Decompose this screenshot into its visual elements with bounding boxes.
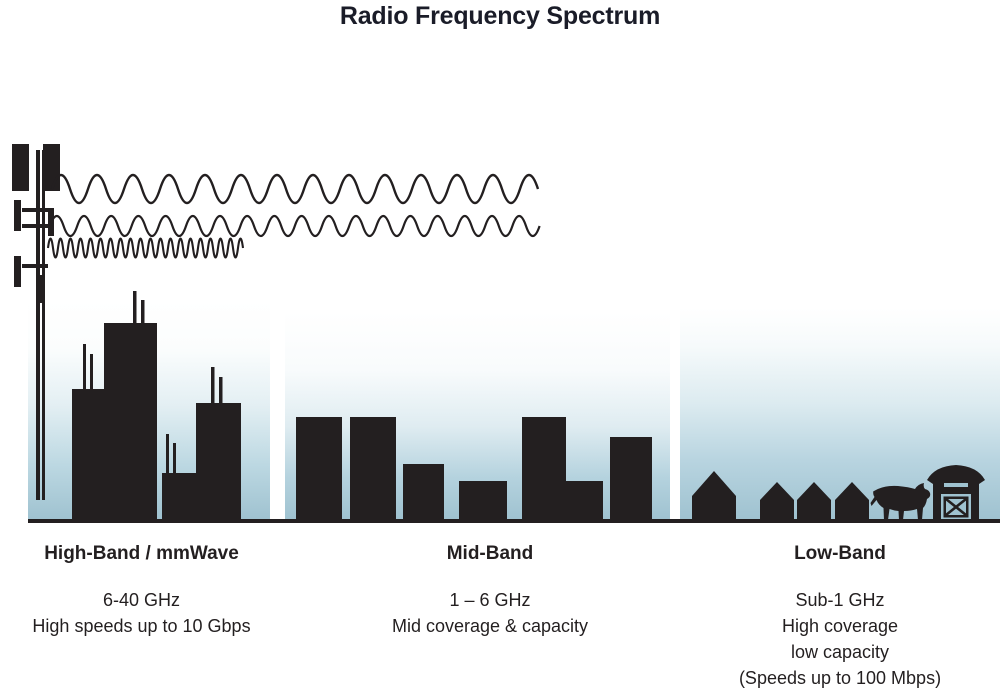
low-frequency-wave	[52, 175, 538, 203]
band-detail-capacity-low: low capacity	[680, 639, 1000, 665]
band-column-mid-band: Mid-Band 1 – 6 GHz Mid coverage & capaci…	[340, 543, 640, 639]
band-detail-speed-high: High speeds up to 10 Gbps	[0, 613, 283, 639]
mid-frequency-wave	[50, 216, 540, 236]
barn-icon	[927, 465, 985, 520]
band-detail-speed-low: (Speeds up to 100 Mbps)	[680, 665, 1000, 691]
band-column-high-band: High-Band / mmWave 6-40 GHz High speeds …	[0, 543, 283, 639]
band-detail-coverage-low: High coverage	[680, 613, 1000, 639]
band-column-low-band: Low-Band Sub-1 GHz High coverage low cap…	[680, 543, 1000, 691]
high-frequency-wave	[48, 239, 243, 258]
band-detail-frequency-mid: 1 – 6 GHz	[340, 587, 640, 613]
band-detail-coverage-mid: Mid coverage & capacity	[340, 613, 640, 639]
band-title-low-band: Low-Band	[680, 543, 1000, 565]
band-title-high-band: High-Band / mmWave	[0, 543, 283, 565]
ground-line	[28, 519, 1000, 523]
band-detail-frequency-low: Sub-1 GHz	[680, 587, 1000, 613]
band-title-mid-band: Mid-Band	[340, 543, 640, 565]
band-labels: High-Band / mmWave 6-40 GHz High speeds …	[0, 543, 1000, 700]
band-detail-frequency-high: 6-40 GHz	[0, 587, 283, 613]
spectrum-diagram	[0, 0, 1000, 540]
